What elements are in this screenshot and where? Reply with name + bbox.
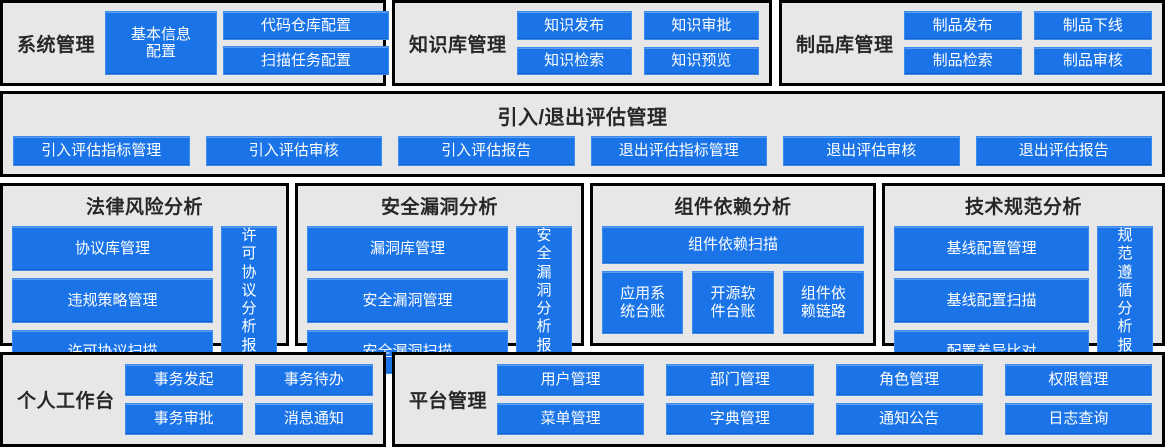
button-task-approval[interactable]: 事务审批 [125,403,243,435]
button-application-system-ledger[interactable]: 应用系 统台账 [602,271,683,334]
button-role-management[interactable]: 角色管理 [836,364,983,396]
button-baseline-config-management[interactable]: 基线配置管理 [894,226,1089,271]
panel-artifact-repository-management: 制品库管理 制品发布 制品下线 制品检索 制品审核 [779,0,1165,86]
panel-knowledge-base-management: 知识库管理 知识发布 知识审批 知识检索 知识预览 [392,0,772,86]
button-component-dependency-scan[interactable]: 组件依赖扫描 [602,226,864,264]
button-baseline-config-scan[interactable]: 基线配置扫描 [894,278,1089,323]
button-artifact-search[interactable]: 制品检索 [904,47,1022,76]
button-exit-eval-audit[interactable]: 退出评估审核 [783,136,960,166]
panel-title-personal-workbench: 个人工作台 [3,386,125,413]
button-artifact-publish[interactable]: 制品发布 [904,11,1022,40]
panel-introduction-exit-evaluation-management: 引入/退出评估管理 引入评估指标管理 引入评估审核 引入评估报告 退出评估指标管… [0,91,1165,177]
button-menu-management[interactable]: 菜单管理 [497,403,644,435]
panel-platform-management: 平台管理 用户管理 部门管理 角色管理 权限管理 菜单管理 字典管理 通知公告 … [392,352,1165,447]
button-permission-management[interactable]: 权限管理 [1005,364,1152,396]
button-violation-policy-management[interactable]: 违规策略管理 [12,278,213,323]
panel-title-technical-specification-analysis: 技术规范分析 [885,186,1162,226]
button-knowledge-approve[interactable]: 知识审批 [644,11,759,40]
button-artifact-offline[interactable]: 制品下线 [1034,11,1152,40]
button-open-source-software-ledger[interactable]: 开源软 件台账 [692,271,773,334]
button-message-notification[interactable]: 消息通知 [255,403,373,435]
button-intro-eval-metric-management[interactable]: 引入评估指标管理 [13,136,190,166]
button-intro-eval-audit[interactable]: 引入评估审核 [206,136,383,166]
button-knowledge-search[interactable]: 知识检索 [517,47,632,76]
button-license-library-management[interactable]: 协议库管理 [12,226,213,271]
panel-title-system-management: 系统管理 [3,30,105,57]
button-component-dependency-chain[interactable]: 组件依 赖链路 [783,271,864,334]
button-exit-eval-report[interactable]: 退出评估报告 [976,136,1153,166]
button-intro-eval-report[interactable]: 引入评估报告 [398,136,575,166]
button-basic-info-config[interactable]: 基本信息 配置 [105,11,217,75]
panel-title-artifact-repository-management: 制品库管理 [782,30,904,57]
panel-component-dependency-analysis: 组件依赖分析 组件依赖扫描 应用系 统台账 开源软 件台账 组件依 赖链路 [590,183,876,346]
panel-title-platform-management: 平台管理 [395,386,497,413]
panel-title-component-dependency-analysis: 组件依赖分析 [593,186,873,226]
button-task-initiate[interactable]: 事务发起 [125,364,243,396]
panel-security-vulnerability-analysis: 安全漏洞分析 漏洞库管理 安全漏洞管理 安全漏洞扫描 安 全 漏 洞 分 析 报… [295,183,584,346]
button-scan-task-config[interactable]: 扫描任务配置 [223,46,389,75]
panel-legal-risk-analysis: 法律风险分析 协议库管理 违规策略管理 许可协议扫描 许 可 协 议 分 析 报… [0,183,289,346]
button-code-repo-config[interactable]: 代码仓库配置 [223,11,389,40]
button-artifact-audit[interactable]: 制品审核 [1034,47,1152,76]
panel-title-introduction-exit-evaluation-management: 引入/退出评估管理 [3,94,1162,136]
button-user-management[interactable]: 用户管理 [497,364,644,396]
panel-technical-specification-analysis: 技术规范分析 基线配置管理 基线配置扫描 配置差异比对 规 范 遵 循 分 析 … [882,183,1165,346]
button-task-todo[interactable]: 事务待办 [255,364,373,396]
button-announcement[interactable]: 通知公告 [836,403,983,435]
panel-personal-workbench: 个人工作台 事务发起 事务待办 事务审批 消息通知 [0,352,386,447]
architecture-diagram: 系统管理 基本信息 配置 代码仓库配置 扫描任务配置 知识库管理 知识发布 知识… [0,0,1165,447]
button-exit-eval-metric-management[interactable]: 退出评估指标管理 [591,136,768,166]
button-department-management[interactable]: 部门管理 [666,364,813,396]
panel-system-management: 系统管理 基本信息 配置 代码仓库配置 扫描任务配置 [0,0,386,86]
button-security-vulnerability-management[interactable]: 安全漏洞管理 [307,278,508,323]
panel-title-security-vulnerability-analysis: 安全漏洞分析 [298,186,581,226]
button-log-query[interactable]: 日志查询 [1005,403,1152,435]
button-knowledge-preview[interactable]: 知识预览 [644,47,759,76]
panel-title-knowledge-base-management: 知识库管理 [395,30,517,57]
button-vulnerability-library-management[interactable]: 漏洞库管理 [307,226,508,271]
button-knowledge-publish[interactable]: 知识发布 [517,11,632,40]
panel-title-legal-risk-analysis: 法律风险分析 [3,186,286,226]
button-dictionary-management[interactable]: 字典管理 [666,403,813,435]
